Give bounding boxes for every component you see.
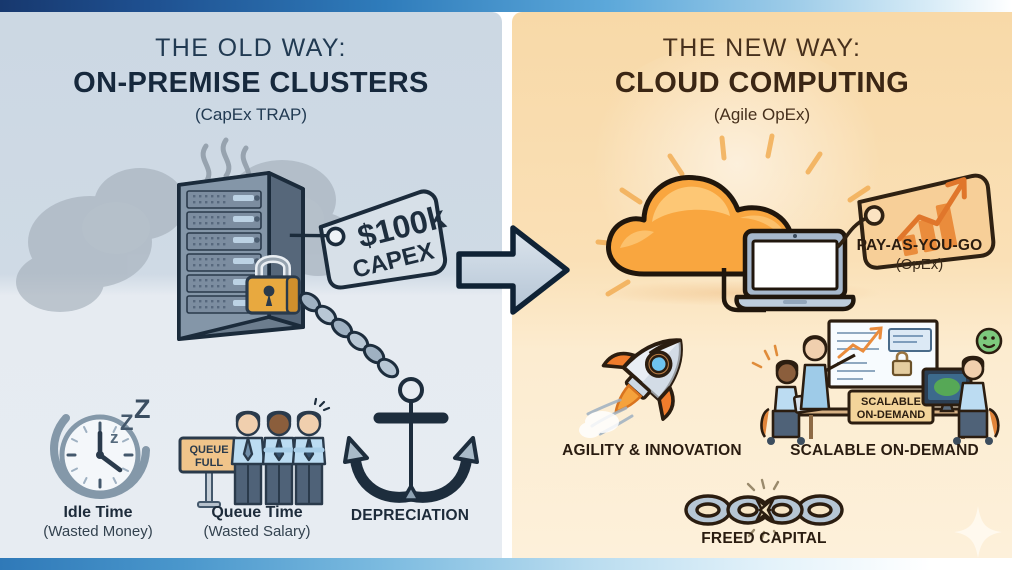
rocket-icon [582, 322, 712, 437]
sparkle-icon [952, 504, 1004, 558]
old-way-header-line3: (CapEx TRAP) [0, 105, 502, 125]
new-way-header-line1: THE NEW WAY: [512, 34, 1012, 63]
anchor-icon [345, 374, 485, 509]
scalable-label: SCALABLE ON-DEMAND [767, 442, 1002, 460]
queue-sign-line1: QUEUE [189, 444, 228, 456]
svg-text:Z: Z [120, 410, 133, 435]
idle-time-caption: Idle Time (Wasted Money) [12, 504, 184, 540]
freed-capital-label: FREED CAPITAL [674, 530, 854, 548]
svg-text:z: z [110, 428, 119, 447]
payg-sublabel: (OpEx) [832, 256, 1007, 273]
payg-caption: PAY-AS-YOU-GO (OpEx) [832, 237, 1007, 273]
queue-sign-line2: FULL [195, 457, 223, 469]
queue-time-sublabel: (Wasted Salary) [172, 523, 342, 540]
freed-capital-caption: FREED CAPITAL [674, 530, 854, 548]
old-way-header-line1: THE OLD WAY: [0, 34, 502, 63]
new-way-header: THE NEW WAY: CLOUD COMPUTING (Agile OpEx… [512, 34, 1012, 125]
agility-label: AGILITY & INNOVATION [532, 442, 772, 460]
depreciation-caption: DEPRECIATION [330, 507, 490, 525]
queue-people-icon [228, 402, 328, 506]
new-way-header-line3: (Agile OpEx) [512, 105, 1012, 125]
new-way-panel: THE NEW WAY: CLOUD COMPUTING (Agile OpEx… [512, 12, 1012, 558]
team-workspace-icon: SCALABLE ON-DEMAND [767, 317, 1002, 447]
bottom-accent-bar [0, 558, 1012, 570]
new-way-header-line2: CLOUD COMPUTING [512, 67, 1012, 100]
old-way-panel: THE OLD WAY: ON-PREMISE CLUSTERS (CapEx … [0, 12, 502, 558]
scalable-sign-line1: SCALABLE [861, 396, 921, 408]
clock-zzz-icon: z Z Z [48, 400, 166, 500]
old-way-header-line2: ON-PREMISE CLUSTERS [0, 67, 502, 100]
idle-time-label: Idle Time [12, 504, 184, 522]
agility-caption: AGILITY & INNOVATION [532, 442, 772, 460]
queue-time-caption: Queue Time (Wasted Salary) [172, 504, 342, 540]
top-accent-bar [0, 0, 1012, 12]
queue-time-label: Queue Time [172, 504, 342, 522]
transition-arrow-icon [455, 218, 575, 323]
scalable-sign-line2: ON-DEMAND [857, 409, 925, 421]
infographic-canvas: THE OLD WAY: ON-PREMISE CLUSTERS (CapEx … [0, 0, 1012, 570]
payg-label: PAY-AS-YOU-GO [832, 237, 1007, 255]
depreciation-label: DEPRECIATION [330, 507, 490, 525]
padlock-icon [243, 250, 305, 320]
old-way-header: THE OLD WAY: ON-PREMISE CLUSTERS (CapEx … [0, 34, 502, 125]
idle-time-sublabel: (Wasted Money) [12, 523, 184, 540]
svg-text:Z: Z [134, 394, 151, 424]
scalable-caption: SCALABLE ON-DEMAND [767, 442, 1002, 460]
